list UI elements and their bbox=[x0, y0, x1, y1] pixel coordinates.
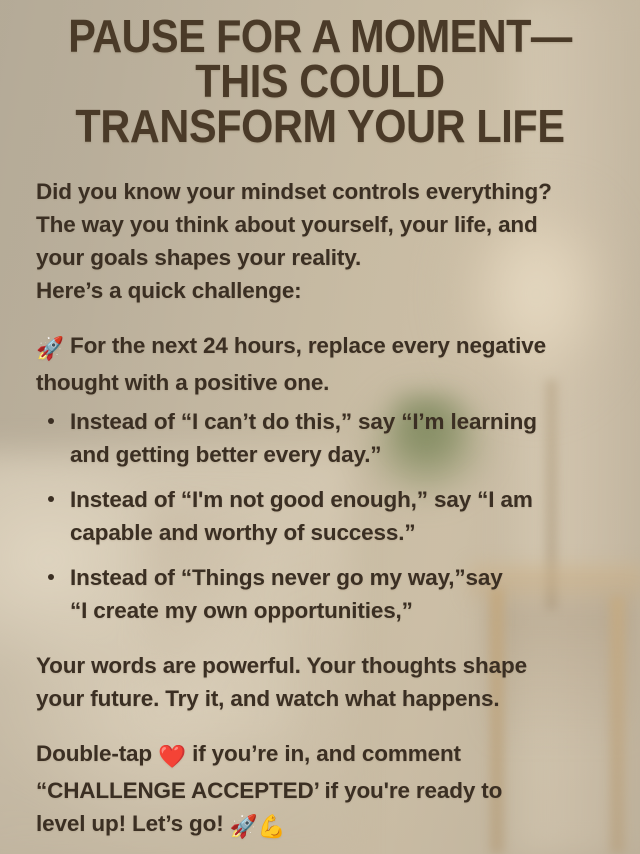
rocket-icon: 🚀 bbox=[230, 811, 258, 844]
heart-icon: ❤️ bbox=[158, 741, 186, 774]
page-title-line-2: THIS COULD bbox=[57, 59, 583, 104]
cta-line-1-prefix: Double-tap bbox=[36, 741, 152, 766]
poster-body: Did you know your mindset controls every… bbox=[22, 175, 618, 844]
challenge-line-2: thought with a positive one. bbox=[36, 366, 612, 399]
cta-line-3-text: level up! Let’s go! bbox=[36, 811, 224, 836]
bullet-dot-icon bbox=[48, 574, 54, 580]
page-title-line-1: PAUSE FOR A MOMENT— bbox=[57, 14, 583, 59]
intro-paragraph: Did you know your mindset controls every… bbox=[36, 175, 612, 307]
cta-line-2: “CHALLENGE ACCEPTED’ if you're ready to bbox=[36, 774, 612, 807]
page-title: PAUSE FOR A MOMENT— THIS COULD TRANSFORM… bbox=[52, 14, 588, 149]
list-item-line-1: Instead of “I can’t do this,” say “I’m l… bbox=[70, 405, 612, 438]
bullet-dot-icon bbox=[48, 418, 54, 424]
intro-line-1: Did you know your mindset controls every… bbox=[36, 175, 612, 208]
rocket-icon: 🚀 bbox=[36, 333, 64, 366]
affirmation-list: Instead of “I can’t do this,” say “I’m l… bbox=[36, 405, 612, 627]
call-to-action-paragraph: Double-tap ❤️ if you’re in, and comment … bbox=[36, 737, 612, 844]
list-item-line-1: Instead of “Things never go my way,”say bbox=[70, 561, 612, 594]
intro-line-4: Here’s a quick challenge: bbox=[36, 274, 612, 307]
list-item-line-2: capable and worthy of success.” bbox=[70, 516, 612, 549]
page-title-line-3: TRANSFORM YOUR LIFE bbox=[57, 104, 583, 149]
list-item: Instead of “Things never go my way,”say … bbox=[36, 561, 612, 627]
list-item-line-2: and getting better every day.” bbox=[70, 438, 612, 471]
list-item-line-1: Instead of “I'm not good enough,” say “I… bbox=[70, 483, 612, 516]
closing-line-2: your future. Try it, and watch what happ… bbox=[36, 682, 612, 715]
poster-content: PAUSE FOR A MOMENT— THIS COULD TRANSFORM… bbox=[0, 0, 640, 854]
challenge-line-1-text: For the next 24 hours, replace every neg… bbox=[70, 333, 546, 358]
cta-line-1-suffix: if you’re in, and comment bbox=[192, 741, 461, 766]
motivational-quote-poster: PAUSE FOR A MOMENT— THIS COULD TRANSFORM… bbox=[0, 0, 640, 854]
challenge-paragraph: 🚀 For the next 24 hours, replace every n… bbox=[36, 329, 612, 399]
bullet-dot-icon bbox=[48, 496, 54, 502]
cta-line-1: Double-tap ❤️ if you’re in, and comment bbox=[36, 737, 612, 774]
intro-line-2: The way you think about yourself, your l… bbox=[36, 208, 612, 241]
closing-line-1: Your words are powerful. Your thoughts s… bbox=[36, 649, 612, 682]
flexed-biceps-icon: 💪 bbox=[258, 811, 286, 844]
intro-line-3: your goals shapes your reality. bbox=[36, 241, 612, 274]
list-item: Instead of “I can’t do this,” say “I’m l… bbox=[36, 405, 612, 471]
closing-paragraph: Your words are powerful. Your thoughts s… bbox=[36, 649, 612, 715]
list-item: Instead of “I'm not good enough,” say “I… bbox=[36, 483, 612, 549]
cta-line-3: level up! Let’s go! 🚀💪 bbox=[36, 807, 612, 844]
challenge-line-1: 🚀 For the next 24 hours, replace every n… bbox=[36, 329, 612, 366]
list-item-line-2: “I create my own opportunities,” bbox=[70, 594, 612, 627]
